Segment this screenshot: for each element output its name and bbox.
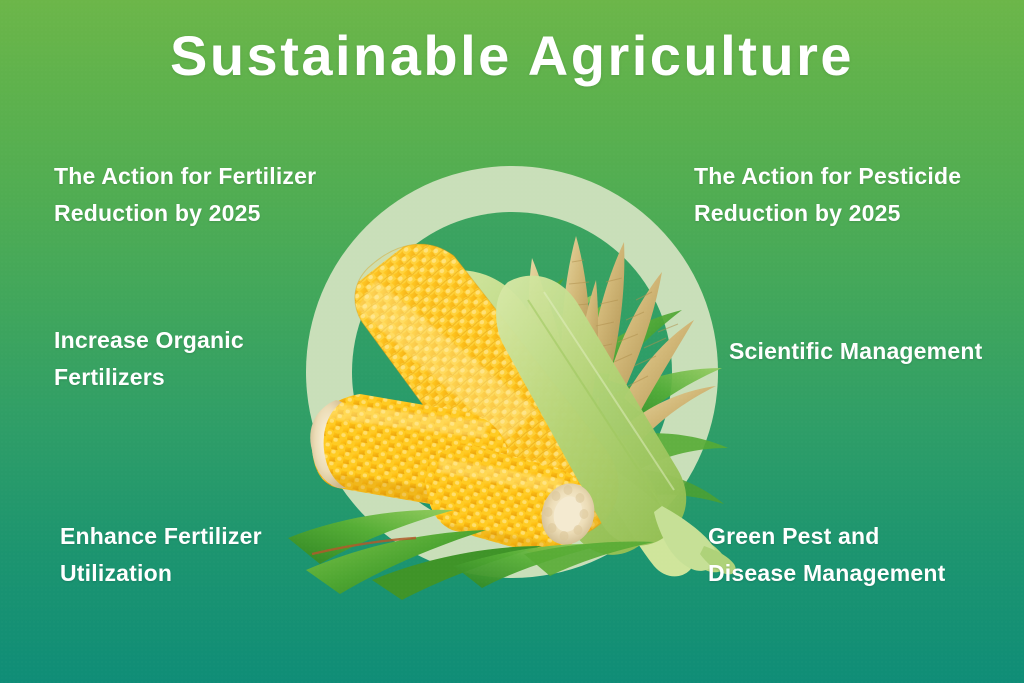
- label-line-2: Fertilizers: [54, 359, 244, 396]
- sustainable-agriculture-poster: Sustainable Agriculture The Action for F…: [0, 0, 1024, 683]
- label-increase-organic-fertilizers: Increase Organic Fertilizers: [54, 322, 244, 397]
- label-scientific-management: Scientific Management: [729, 333, 982, 370]
- label-line-1: The Action for Pesticide: [694, 158, 961, 195]
- corn-and-wheat-illustration: [276, 150, 746, 600]
- label-line-2: Utilization: [60, 555, 262, 592]
- label-line-1: The Action for Fertilizer: [54, 158, 316, 195]
- label-the-action-for-fertilizer-reduction: The Action for Fertilizer Reduction by 2…: [54, 158, 316, 233]
- label-line-1: Scientific Management: [729, 333, 982, 370]
- label-line-1: Increase Organic: [54, 322, 244, 359]
- label-line-2: Reduction by 2025: [54, 195, 316, 232]
- label-green-pest-and-disease-management: Green Pest and Disease Management: [708, 518, 946, 593]
- label-line-2: Disease Management: [708, 555, 946, 592]
- label-line-1: Enhance Fertilizer: [60, 518, 262, 555]
- page-title: Sustainable Agriculture: [0, 28, 1024, 84]
- label-enhance-fertilizer-utilization: Enhance Fertilizer Utilization: [60, 518, 262, 593]
- label-line-2: Reduction by 2025: [694, 195, 961, 232]
- label-line-1: Green Pest and: [708, 518, 946, 555]
- label-the-action-for-pesticide-reduction: The Action for Pesticide Reduction by 20…: [694, 158, 961, 233]
